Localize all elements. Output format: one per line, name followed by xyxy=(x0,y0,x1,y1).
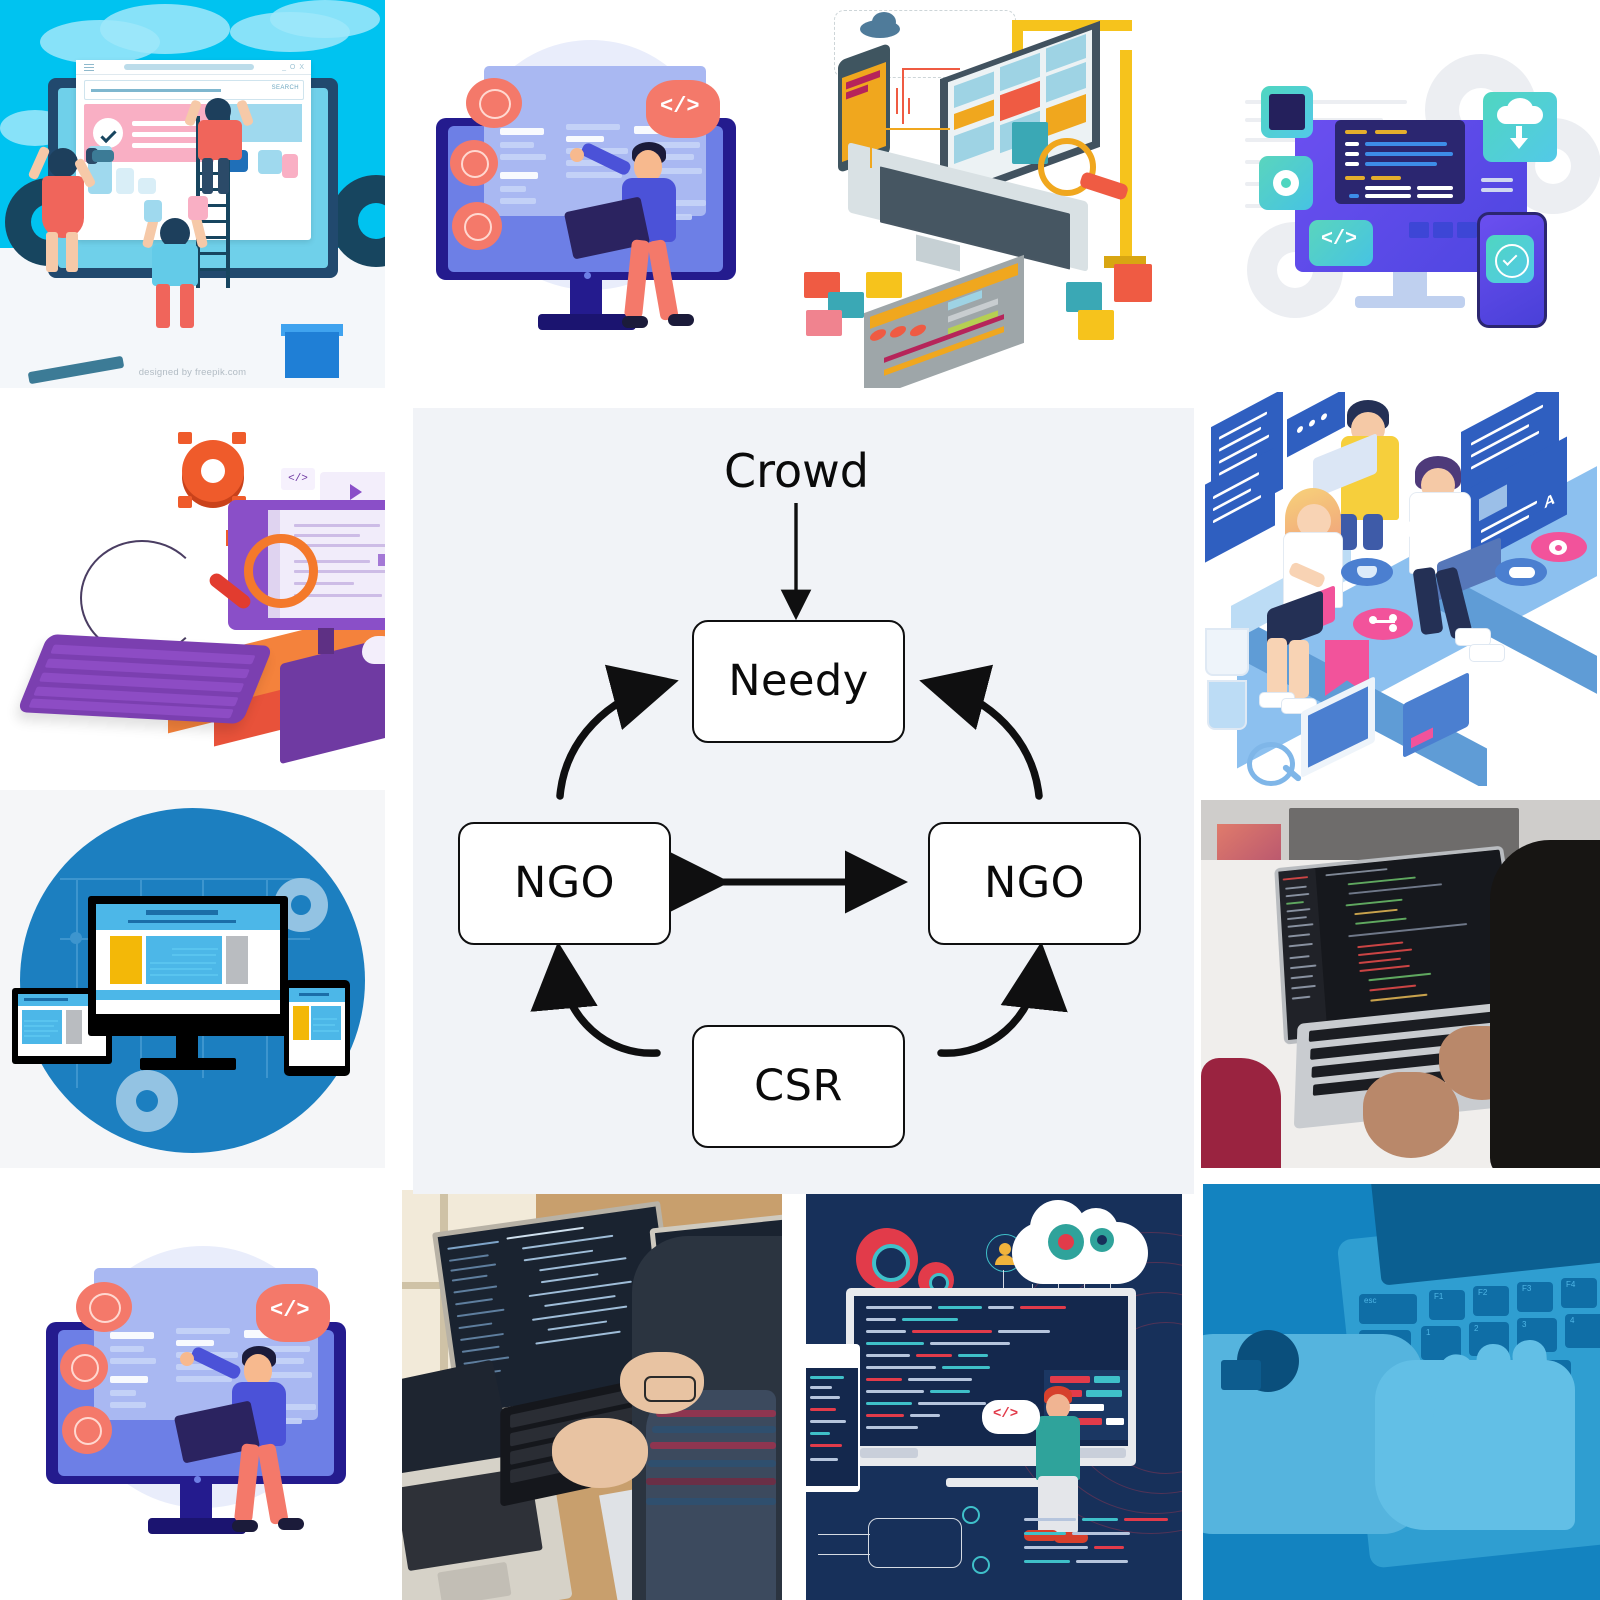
gear-pill-icon xyxy=(1531,532,1587,562)
hexagon-badge-icon xyxy=(76,1282,132,1332)
tablet-screen xyxy=(289,988,345,1066)
photo-icon-block xyxy=(806,310,842,336)
camera-icon-block xyxy=(866,272,902,298)
code-tag-label: </> xyxy=(1321,228,1357,251)
content-square xyxy=(116,168,134,194)
monitor-stand xyxy=(180,1484,212,1522)
key-f2: F2 xyxy=(1473,1286,1509,1316)
cloud-icon xyxy=(872,12,896,32)
tile-isometric-team: A xyxy=(1185,392,1600,786)
edge-csr-to-ngo-left xyxy=(560,964,657,1053)
user-icon-block xyxy=(1114,264,1152,302)
cloud-shape xyxy=(100,4,230,54)
smartphone-icon xyxy=(1477,212,1547,328)
diagram-label-crowd: Crowd xyxy=(692,444,901,498)
node-label: Needy xyxy=(728,660,868,703)
tile-photo-blue-duotone-hands: esc F1 F2 F3 F4 ~ 1 2 3 4 tab Q W E caps… xyxy=(1185,1172,1600,1600)
crane-post xyxy=(1120,50,1132,270)
key-esc: esc xyxy=(1359,1294,1417,1324)
node-label: NGO xyxy=(514,862,615,905)
tile-3d-purple-keyboard: </> xyxy=(0,392,385,786)
magnifier-icon xyxy=(1247,742,1295,786)
gear-icon xyxy=(856,1228,918,1290)
key-f1: F1 xyxy=(1429,1290,1465,1320)
monitor-stand xyxy=(318,628,334,654)
cloud-shape xyxy=(270,0,380,38)
diagram-node-csr[interactable]: CSR xyxy=(692,1025,905,1148)
mouse-icon xyxy=(362,636,385,664)
monitor-led xyxy=(194,1476,201,1483)
gear-chip-icon xyxy=(1259,156,1313,210)
tile-teal-violet-code-monitor: </> xyxy=(1185,0,1600,388)
monitor-led xyxy=(584,272,591,279)
gear-icon xyxy=(182,440,244,502)
tile-photo-developer-multi-monitor xyxy=(402,1172,782,1600)
node-label: NGO xyxy=(984,862,1085,905)
atom-badge-icon xyxy=(60,1344,108,1390)
developer-shoe xyxy=(278,1518,304,1530)
window-controls: _ O X xyxy=(282,64,305,71)
code-tag-label: </> xyxy=(660,94,700,119)
hamburger-icon xyxy=(84,64,94,71)
chat-bubble xyxy=(1287,392,1345,457)
diagram-node-ngo-left[interactable]: NGO xyxy=(458,822,671,945)
rounded-connector xyxy=(868,1518,962,1568)
cloud-icon xyxy=(1012,1222,1148,1284)
like-pill-icon xyxy=(1341,558,1393,586)
badge-letter: A xyxy=(1544,490,1555,513)
illustration-background: </> xyxy=(806,1192,1182,1600)
diagram-node-needy[interactable]: Needy xyxy=(692,620,905,743)
code-tag-bubble-icon: </> xyxy=(256,1284,330,1342)
key-f4: F4 xyxy=(1561,1278,1597,1308)
check-icon xyxy=(93,118,123,148)
finger xyxy=(1511,1339,1552,1445)
tile-navy-code-cloud: </> xyxy=(786,1172,1182,1600)
tablet-screen xyxy=(806,1368,858,1486)
keyboard-icon xyxy=(17,634,274,724)
left-hand xyxy=(1363,1072,1459,1158)
code-list-chip-icon xyxy=(1261,86,1313,138)
finger xyxy=(1473,1343,1511,1464)
cloud-download-chip-icon xyxy=(1483,92,1557,162)
eyeglasses xyxy=(644,1376,696,1402)
person-shirt xyxy=(1201,1058,1281,1168)
code-tag-chip-icon: </> xyxy=(1309,220,1373,266)
collage-page: _ O X SEARCH xyxy=(0,0,1600,1600)
developer-hand xyxy=(180,1352,194,1366)
developer-shoe xyxy=(622,316,648,328)
share-pill-icon xyxy=(1353,608,1413,640)
crane-arm xyxy=(1012,20,1132,31)
tile-developer-pointing-monitor-duplicate: </> xyxy=(0,1170,385,1600)
edge-csr-to-ngo-right xyxy=(941,964,1039,1053)
code-tag-bubble-icon: </> xyxy=(982,1400,1040,1434)
cup-icon xyxy=(1207,680,1247,730)
attribution-credit: designed by freepik.com xyxy=(0,367,385,378)
developer-legs xyxy=(1038,1476,1078,1534)
code-tag-label: </> xyxy=(281,468,315,490)
edge-ngo-left-to-needy xyxy=(560,686,657,796)
hexagon-badge-icon xyxy=(466,78,522,128)
developer-sleeve xyxy=(646,1390,776,1600)
tile-photo-coding-macbook xyxy=(1185,790,1600,1168)
diagram-node-ngo-right[interactable]: NGO xyxy=(928,822,1141,945)
cloud-pill-icon xyxy=(1495,558,1547,586)
code-tag-bubble-icon: </> xyxy=(646,80,720,138)
monitor-base xyxy=(1355,296,1465,308)
cup-icon xyxy=(1205,628,1249,676)
key-f3: F3 xyxy=(1517,1282,1553,1312)
tile-developer-pointing-monitor: </> xyxy=(388,0,781,388)
photo-frame xyxy=(402,1190,782,1600)
check-chip-icon xyxy=(1486,235,1534,283)
orbit-badge-icon xyxy=(452,202,502,250)
developer-shoe xyxy=(668,314,694,326)
monitor-screen xyxy=(1335,120,1465,204)
monitor-base xyxy=(140,1058,236,1070)
developer-shoe xyxy=(232,1520,258,1532)
orbit-badge-icon xyxy=(62,1406,112,1454)
search-label: SEARCH xyxy=(272,85,299,91)
edge-ngo-right-to-needy xyxy=(941,686,1039,796)
monitor-screen xyxy=(96,904,280,1014)
photo-frame xyxy=(1201,800,1600,1168)
monitor-stand xyxy=(570,280,602,318)
left-hand xyxy=(552,1418,648,1488)
photo-frame: esc F1 F2 F3 F4 ~ 1 2 3 4 tab Q W E caps… xyxy=(1203,1184,1600,1600)
gear-icon-block xyxy=(1066,282,1102,312)
address-bar xyxy=(124,64,254,70)
person-hair xyxy=(1490,840,1600,1168)
flow-diagram-panel: Crowd Needy NGO NGO CSR xyxy=(413,408,1194,1194)
code-tag-label: </> xyxy=(270,1298,310,1323)
content-square xyxy=(282,154,298,178)
tile-flat-responsive-badge xyxy=(0,790,385,1168)
node-label: CSR xyxy=(754,1065,843,1108)
atom-badge-icon xyxy=(450,140,498,186)
watch-band xyxy=(1221,1360,1261,1390)
search-field: SEARCH xyxy=(84,80,304,100)
chat-icon-block xyxy=(1078,310,1114,340)
paint-roller-icon xyxy=(92,150,114,162)
tile-kids-building-website: _ O X SEARCH xyxy=(0,0,385,388)
content-square xyxy=(258,150,282,174)
code-tag-label: </> xyxy=(993,1406,1018,1422)
key-4: 4 xyxy=(1565,1314,1600,1348)
content-square xyxy=(138,178,156,194)
tile-isometric-web-construction xyxy=(784,0,1182,388)
developer-hand xyxy=(570,148,584,162)
magnifier-icon xyxy=(244,534,318,608)
